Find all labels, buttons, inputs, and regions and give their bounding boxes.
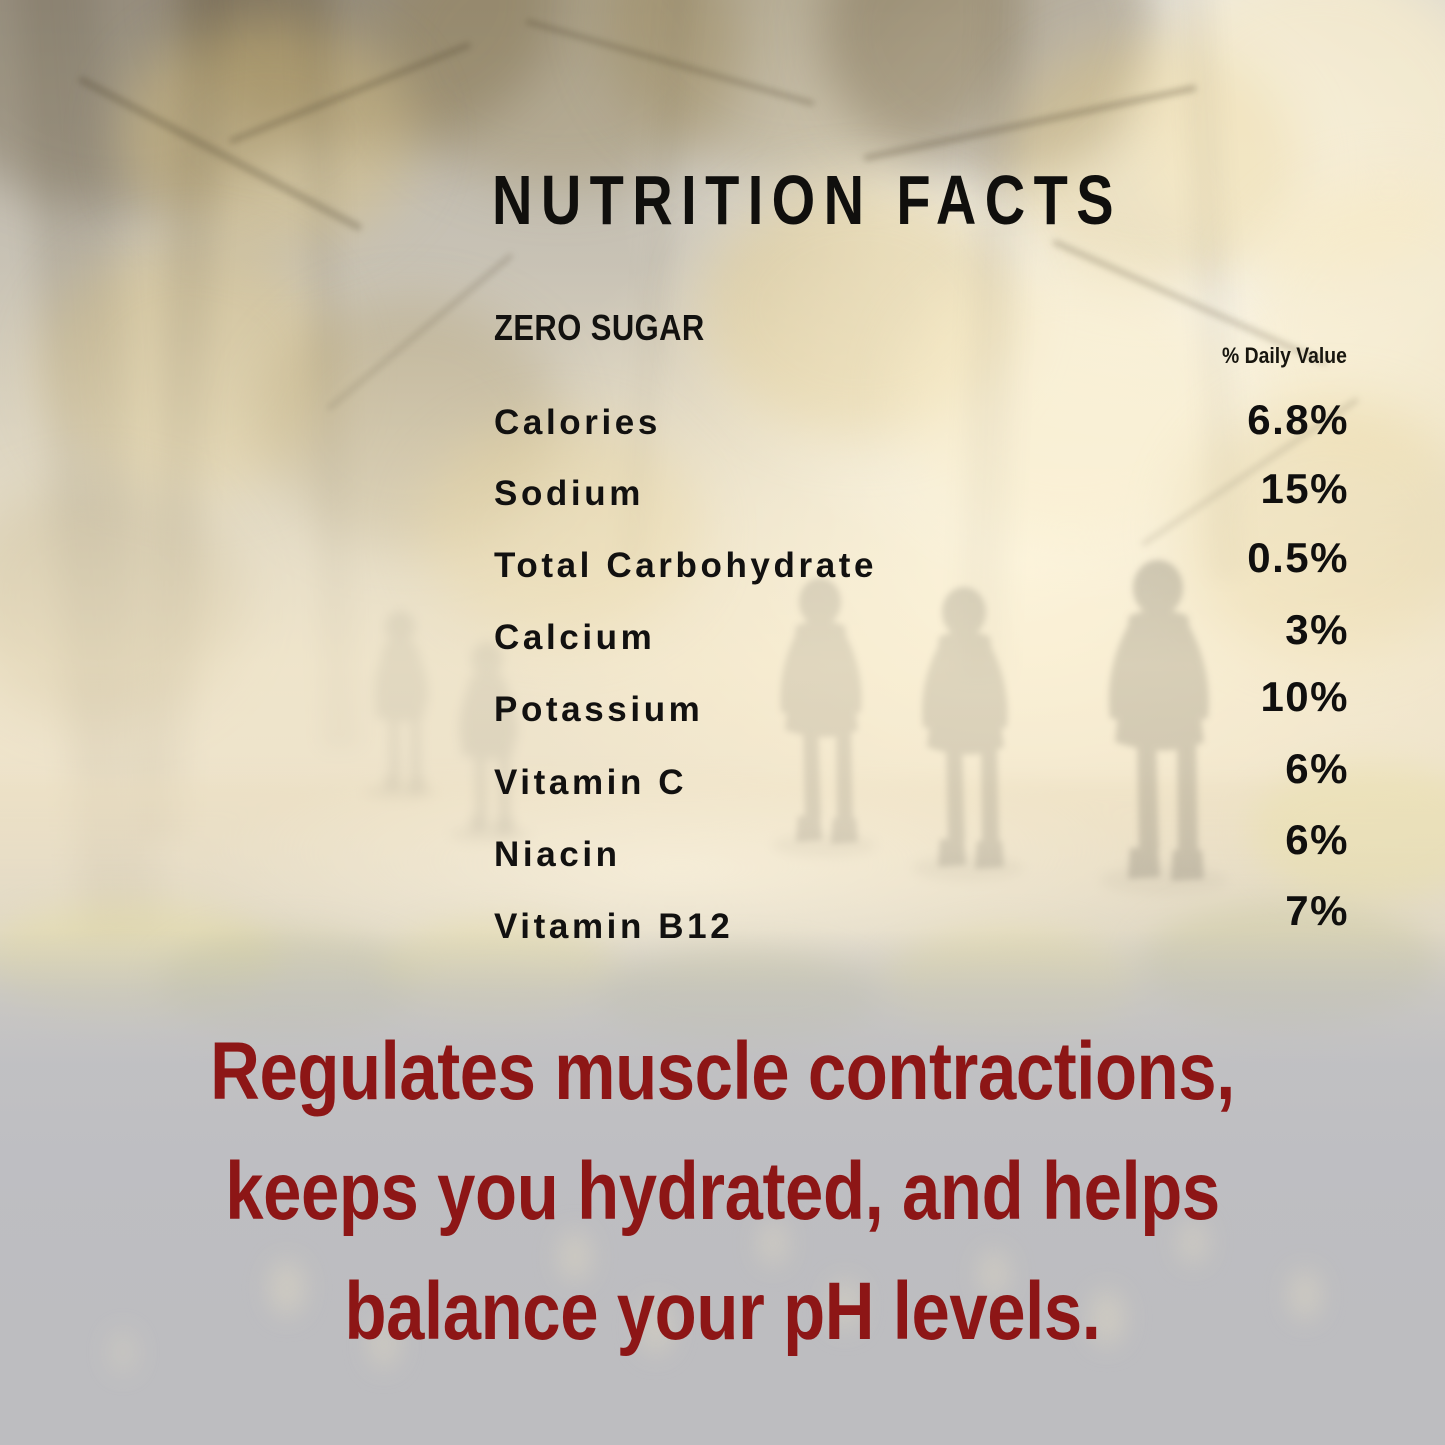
nutrient-value-sodium: 15% [1260,466,1349,512]
nutrient-value-calcium: 3% [1285,607,1349,653]
nutrient-value-total-carbohydrate: 0.5% [1247,535,1349,581]
nutrient-value-potassium: 10% [1260,674,1349,720]
nutrient-value-calories: 6.8% [1247,397,1349,443]
nutrient-label-vitamin-b12: Vitamin B12 [494,907,733,947]
nutrient-label-calcium: Calcium [494,618,655,658]
tagline-line-2: keeps you hydrated, and helps [116,1142,1330,1242]
nutrient-value-vitamin-b12: 7% [1285,888,1349,934]
tagline-line-1: Regulates muscle contractions, [116,1022,1330,1122]
zero-sugar-label: ZERO SUGAR [494,308,705,348]
nutrient-label-vitamin-c: Vitamin C [494,763,687,803]
nutrition-facts-poster: NUTRITION FACTS ZERO SUGAR % Daily Value… [0,0,1445,1445]
daily-value-header: % Daily Value [1222,343,1347,369]
nutrient-label-potassium: Potassium [494,690,703,730]
nutrient-label-niacin: Niacin [494,835,621,875]
nutrient-value-vitamin-c: 6% [1285,746,1349,792]
page-title: NUTRITION FACTS [492,163,1122,237]
tagline-line-3: balance your pH levels. [116,1262,1330,1362]
nutrient-label-sodium: Sodium [494,474,644,514]
nutrient-value-niacin: 6% [1285,817,1349,863]
nutrient-label-calories: Calories [494,403,661,443]
nutrient-label-total-carbohydrate: Total Carbohydrate [494,546,877,586]
poster-content: NUTRITION FACTS ZERO SUGAR % Daily Value… [0,0,1445,1445]
